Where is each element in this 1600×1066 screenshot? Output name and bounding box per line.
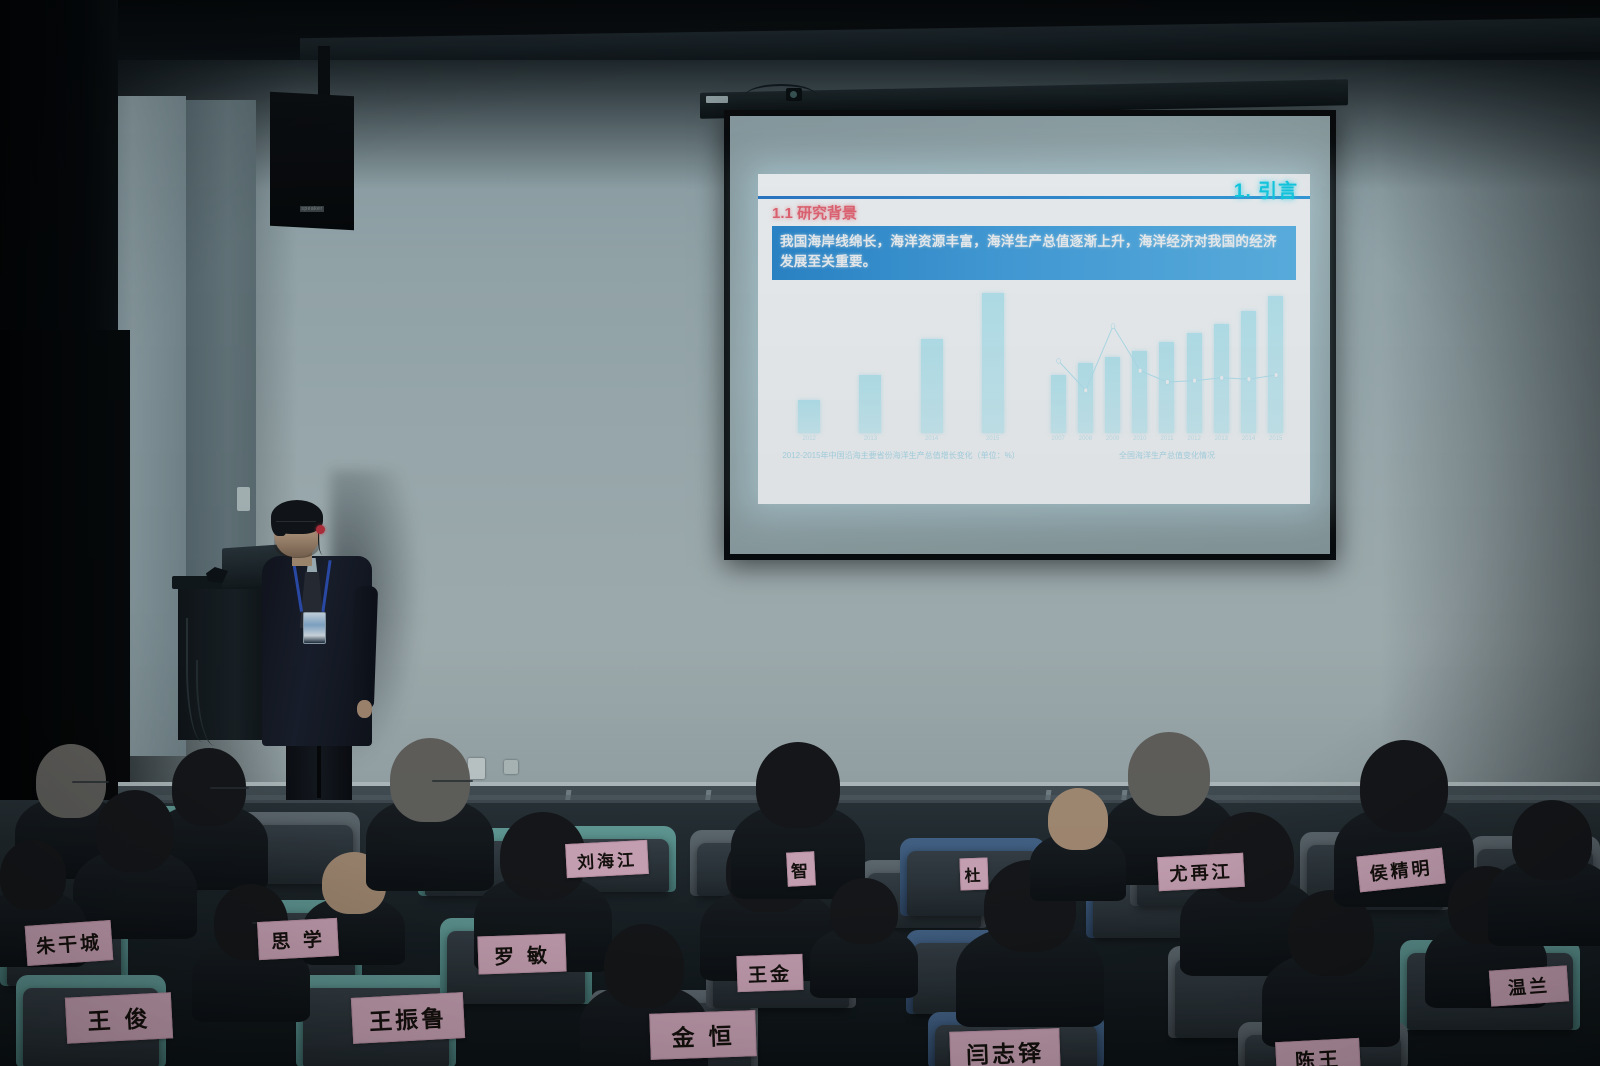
chart-bar — [1078, 363, 1093, 433]
chart-left-caption: 2012-2015年中国沿海主要省份海洋生产总值增长变化（单位：%） — [776, 450, 1026, 461]
chart-x-tick-label: 2015 — [1269, 435, 1282, 444]
chart-bar — [1214, 324, 1229, 433]
seat-name-card: 王 俊 — [65, 992, 173, 1043]
chart-bar-group: 2015 — [982, 292, 1004, 444]
wall-right-shadow — [1380, 60, 1600, 800]
mic-wire — [318, 533, 325, 555]
chart-bar-group: 2015 — [1268, 292, 1283, 444]
chart-x-tick-label: 2014 — [925, 435, 938, 444]
chart-bar-group: 2009 — [1105, 292, 1120, 444]
chart-bar-group: 2012 — [1187, 292, 1202, 444]
seat-name-card: 王金 — [736, 954, 803, 992]
audience-head — [1128, 732, 1210, 816]
ceiling-camera-icon — [786, 88, 802, 101]
seat-name-card: 思 学 — [257, 918, 339, 960]
chart-bar — [1268, 296, 1283, 433]
seat-name-card: 智 — [786, 851, 816, 886]
chart-x-tick-label: 2015 — [986, 435, 999, 444]
slide-accent-rule — [758, 196, 1310, 199]
seat-name-card: 陈王 — [1275, 1038, 1361, 1066]
screen-surface: 1. 引言 1.1 研究背景 我国海岸线绵长，海洋资源丰富，海洋生产总值逐渐上升… — [730, 116, 1330, 554]
seat-name-card: 金 恒 — [649, 1010, 757, 1060]
chart-bar — [982, 293, 1004, 433]
seat-name-card: 杜 — [959, 858, 988, 891]
seat-name-card: 尤再江 — [1157, 853, 1245, 891]
chart-left-plot: 2012201320142015 — [779, 292, 1024, 444]
seat-name-card: 罗 敏 — [477, 933, 566, 974]
audience-head — [1512, 800, 1592, 880]
chart-bar-group: 2010 — [1132, 292, 1147, 444]
projection-screen: 1. 引言 1.1 研究背景 我国海岸线绵长，海洋资源丰富，海洋生产总值逐渐上升… — [724, 110, 1336, 560]
wall-fixture-panel — [237, 487, 250, 511]
chart-bar-group: 2013 — [1214, 292, 1229, 444]
slide-highlight-band: 我国海岸线绵长，海洋资源丰富，海洋生产总值逐渐上升，海洋经济对我国的经济发展至关… — [772, 226, 1296, 280]
presenter-hand — [357, 700, 372, 718]
chart-x-tick-label: 2010 — [1133, 435, 1146, 444]
seat-name-card: 温兰 — [1489, 965, 1569, 1006]
housing-endcap — [706, 96, 728, 103]
seat-name-card: 刘海江 — [565, 840, 649, 878]
chart-right-caption: 全国海洋生产总值变化情况 — [1042, 450, 1292, 461]
chart-x-tick-label: 2011 — [1161, 435, 1174, 444]
conference-badge — [303, 612, 326, 644]
audience-head — [96, 790, 174, 872]
audience-head — [756, 742, 840, 828]
chart-x-tick-label: 2012 — [1187, 435, 1200, 444]
chart-bar — [921, 339, 943, 433]
wall-power-outlet — [468, 758, 485, 779]
presenter-right-arm — [350, 586, 378, 709]
slide-charts-row: 2012201320142015 2012-2015年中国沿海主要省份海洋生产总… — [768, 292, 1300, 498]
chart-bar-group: 2007 — [1051, 292, 1066, 444]
chart-x-tick-label: 2014 — [1242, 435, 1255, 444]
chart-bar-group: 2013 — [859, 292, 881, 444]
seat-name-card: 朱干城 — [25, 920, 114, 966]
chart-bar — [1187, 333, 1202, 433]
chart-x-tick-label: 2013 — [864, 435, 877, 444]
eyeglasses-icon — [432, 780, 474, 782]
chart-x-tick-label: 2013 — [1215, 435, 1228, 444]
chart-bar — [859, 375, 881, 433]
chart-bar — [1159, 342, 1174, 433]
audience-head — [830, 878, 898, 944]
chart-x-tick-label: 2007 — [1052, 435, 1065, 444]
slide-section-title: 1.1 研究背景 — [772, 202, 857, 223]
slide-highlight-text: 我国海岸线绵长，海洋资源丰富，海洋生产总值逐渐上升，海洋经济对我国的经济发展至关… — [780, 232, 1288, 272]
audience-head — [0, 840, 66, 910]
clip-microphone-icon — [316, 525, 325, 534]
audience-head — [604, 924, 684, 1008]
eyeglasses-icon — [72, 781, 108, 783]
chart-bar-group: 2014 — [921, 292, 943, 444]
chart-right: 200720082009201020112012201320142015 全国海… — [1034, 292, 1300, 498]
chart-bar — [1105, 357, 1120, 433]
presenter-glasses-icon — [276, 521, 316, 531]
seat-name-card: 王振鲁 — [351, 992, 465, 1044]
lecture-hall-photo: speaker 1. 引言 1.1 研究背景 我国海岸线绵长，海洋资源丰富，海洋… — [0, 0, 1600, 1066]
speaker-logo: speaker — [300, 206, 324, 212]
chart-bar-group: 2012 — [798, 292, 820, 444]
left-curtain — [0, 330, 130, 800]
wall-power-outlet — [504, 760, 518, 774]
eyeglasses-icon — [210, 787, 248, 789]
chart-bar — [1241, 311, 1256, 433]
chart-bar — [798, 400, 820, 433]
chart-bar-group: 2014 — [1241, 292, 1256, 444]
chart-bar — [1132, 351, 1147, 433]
audience-head — [1048, 788, 1108, 850]
audience-head — [1360, 740, 1448, 832]
chart-right-plot: 200720082009201020112012201320142015 — [1045, 292, 1290, 444]
chart-bar-group: 2011 — [1159, 292, 1174, 444]
chart-x-tick-label: 2012 — [803, 435, 816, 444]
chart-x-tick-label: 2008 — [1079, 435, 1092, 444]
chart-left: 2012201320142015 2012-2015年中国沿海主要省份海洋生产总… — [768, 292, 1034, 498]
chart-x-tick-label: 2009 — [1106, 435, 1119, 444]
presentation-slide: 1. 引言 1.1 研究背景 我国海岸线绵长，海洋资源丰富，海洋生产总值逐渐上升… — [758, 174, 1310, 504]
chart-bar-group: 2008 — [1078, 292, 1093, 444]
slide-chapter-title: 1. 引言 — [1234, 176, 1298, 203]
chart-bar — [1051, 375, 1066, 433]
seat-name-card: 闫志铎 — [949, 1028, 1060, 1066]
